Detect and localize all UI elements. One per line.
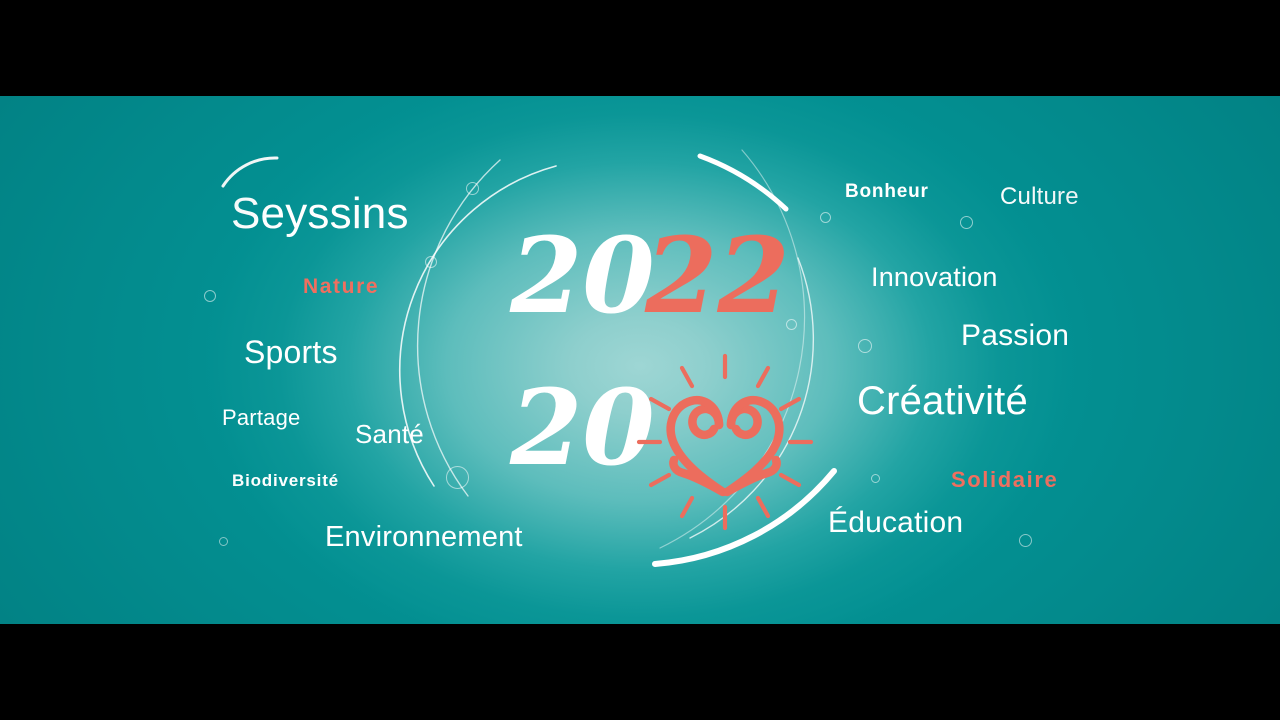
sunburst-rays	[639, 356, 811, 528]
keyword-seyssins: Seyssins	[231, 192, 409, 236]
keyword-biodiversite: Biodiversité	[232, 472, 339, 489]
keyword-culture: Culture	[1000, 185, 1079, 209]
year-row-2022: 20 22	[470, 224, 830, 344]
year-row-2023: 20	[470, 376, 830, 496]
keyword-partage: Partage	[222, 407, 300, 429]
video-frame: SeyssinsNatureSportsPartageSantéBiodiver…	[0, 0, 1280, 720]
keyword-bonheur: Bonheur	[845, 182, 929, 201]
keyword-nature: Nature	[303, 276, 379, 297]
keyword-passion: Passion	[961, 321, 1069, 351]
keyword-environnement: Environnement	[325, 523, 523, 552]
year-composition: 20 22 20	[470, 216, 830, 516]
year-2023-white-digits: 20	[510, 376, 655, 480]
keyword-sante: Santé	[355, 421, 424, 447]
letterbox-top	[0, 0, 1280, 96]
keyword-innovation: Innovation	[871, 264, 998, 291]
keyword-sports: Sports	[244, 336, 338, 368]
heart-23-sunburst-icon	[635, 352, 815, 532]
keyword-education: Éducation	[828, 508, 963, 538]
letterbox-bottom	[0, 624, 1280, 720]
teal-backdrop: SeyssinsNatureSportsPartageSantéBiodiver…	[0, 96, 1280, 624]
keyword-solidaire: Solidaire	[951, 469, 1058, 491]
keyword-creativite: Créativité	[857, 381, 1028, 421]
year-2022-white-digits: 20	[510, 224, 655, 328]
year-2022-coral-digits: 22	[645, 224, 790, 328]
